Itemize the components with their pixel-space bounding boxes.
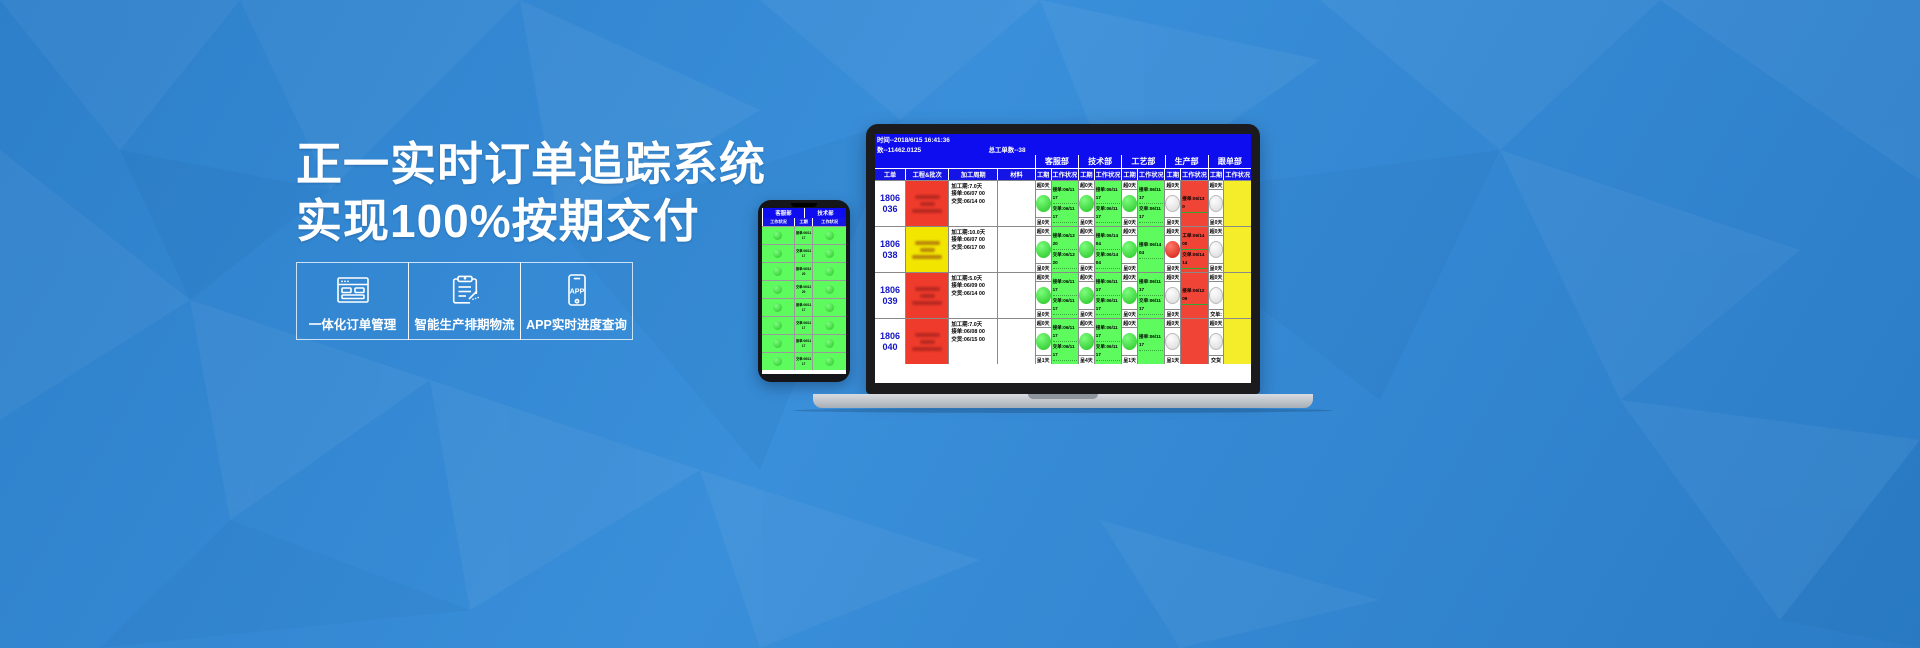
remain-days: 交货: [1209, 355, 1224, 364]
remain-days: 呈0天: [1165, 309, 1180, 318]
status-indicator: [1036, 287, 1051, 304]
over-days: 超0天: [1079, 273, 1094, 282]
status-note: 交单:06/11 17: [1053, 342, 1077, 361]
dept-status-cell: 接单:06/11 17: [1137, 319, 1164, 364]
dept-duration-cell: 超0天呈0天: [1035, 227, 1051, 272]
status-indicator: [1209, 195, 1224, 212]
phone-department-header: 客服部 技术部: [762, 208, 846, 218]
phone-table-row[interactable]: 交单:06/11 17: [762, 316, 846, 334]
status-indicator: [1079, 195, 1094, 212]
received-date: 接单:06/08 00: [951, 329, 995, 336]
status-note: 接单:06/12 09: [1182, 286, 1206, 305]
dept-status-cell: 接单:06/11 17交单:06/11 17: [1051, 181, 1078, 226]
status-note: 交单:06/11 17: [1096, 204, 1120, 223]
remain-days: 呈1天: [1036, 355, 1051, 364]
status-note: 交单:06/11 17: [1139, 296, 1163, 315]
col-status: 工作状况: [1051, 168, 1078, 180]
dept-status-cell: 接单:06/11 17交单:06/11 17: [1137, 181, 1164, 226]
dept-status-cell: [1223, 273, 1250, 318]
dept-header-production: 生产部: [1165, 155, 1208, 168]
status-note: 接单:06/11 17: [1139, 277, 1163, 296]
col-status: 工作状况: [1094, 168, 1121, 180]
dept-status-cell: 接单:06/11 17交单:06/11 17: [1051, 273, 1078, 318]
over-days: 超0天: [1122, 181, 1137, 190]
phone-status-note: 交单:06/11 17: [795, 249, 812, 258]
laptop-lid: 时间--2018/6/15 16:41:36 数--11462.0125 总工单…: [866, 124, 1260, 394]
dept-status-cell: 接单:06/11 17交单:06/11 17: [1094, 181, 1121, 226]
hero-copy: 正一实时订单追踪系统 实现100%按期交付: [296, 136, 716, 250]
table-row[interactable]: 1806038加工期:10.0天接单:06/07 00交货:06/17 00超0…: [875, 226, 1251, 272]
clipboard-icon: [450, 270, 480, 310]
material-cell: [997, 273, 1035, 318]
project-batch-cell: [905, 181, 948, 226]
col-duration: 工期: [1121, 168, 1137, 180]
phone-table-row[interactable]: 接单:06/11 17: [762, 334, 846, 352]
status-indicator: [773, 303, 782, 312]
phone-screen[interactable]: 客服部 技术部 工作状况 工期 工作状况 接单:06/11 17交单:06/11…: [762, 208, 846, 374]
phone-dept-label: 技术部: [804, 208, 846, 218]
dept-duration-cell: 超0天呈0天: [1078, 181, 1094, 226]
status-indicator: [773, 249, 782, 258]
status-indicator: [1122, 333, 1137, 350]
due-date: 交货:06/17 00: [951, 245, 995, 252]
order-row-list: 1806036加工期:7.0天接单:06/07 00交货:06/14 00超0天…: [875, 180, 1251, 364]
status-indicator: [1079, 333, 1094, 350]
dept-status-cell: 接单:06/12 20交单:06/12 20: [1051, 227, 1078, 272]
status-indicator: [825, 321, 834, 330]
dept-duration-cell: 超0天呈0天: [1208, 227, 1224, 272]
remain-days: 呈0天: [1079, 309, 1094, 318]
remain-days: 呈1天: [1122, 355, 1137, 364]
dept-status-cell: [1223, 181, 1250, 226]
table-row[interactable]: 1806040加工期:7.0天接单:06/08 00交货:06/15 00超0天…: [875, 318, 1251, 364]
remain-days: 呈4天: [1079, 355, 1094, 364]
phone-column-header: 工作状况 工期 工作状况: [762, 218, 846, 226]
dept-duration-cell: 超0天呈0天: [1121, 227, 1137, 272]
dept-duration-cell: 超0天呈0天: [1035, 181, 1051, 226]
remain-days: 呈1天: [1165, 355, 1180, 364]
dept-status-cell: 工单:06/14 00交单:06/14 14: [1180, 227, 1207, 272]
over-days: 超0天: [1079, 319, 1094, 328]
dept-duration-cell: 超0天呈0天: [1164, 181, 1180, 226]
table-row[interactable]: 1806039加工期:5.0天接单:06/09 00交货:06/14 00超0天…: [875, 272, 1251, 318]
remain-days: 呈0天: [1122, 217, 1137, 226]
status-indicator: [1209, 287, 1224, 304]
status-indicator: [1122, 195, 1137, 212]
project-batch-cell: [905, 273, 948, 318]
dept-status-cell: 接单:06/11 17交单:06/11 17: [1094, 273, 1121, 318]
status-note: 接单:06/14 04: [1096, 231, 1120, 250]
status-indicator: [825, 303, 834, 312]
column-header-row: 工单 工程&批次 加工周期 材料 工期 工作状况 工期 工作状况 工期 工作状况…: [875, 168, 1251, 180]
laptop-screen[interactable]: 时间--2018/6/15 16:41:36 数--11462.0125 总工单…: [875, 134, 1251, 383]
phone-table-row[interactable]: 接单:06/11 17: [762, 298, 846, 316]
over-days: 超0天: [1209, 319, 1224, 328]
status-indicator: [1165, 333, 1180, 350]
status-note: 接单:06/11 17: [1053, 277, 1077, 296]
order-tracking-dashboard: 时间--2018/6/15 16:41:36 数--11462.0125 总工单…: [875, 134, 1251, 364]
cycle-cell: 加工期:5.0天接单:06/09 00交货:06/14 00: [948, 273, 997, 318]
work-order-id: 1806040: [875, 319, 905, 364]
over-days: 超0天: [1209, 273, 1224, 282]
dept-status-cell: [1223, 319, 1250, 364]
remain-days: 呈0天: [1209, 217, 1224, 226]
feature-label: 智能生产排期物流: [414, 314, 514, 333]
table-row[interactable]: 1806036加工期:7.0天接单:06/07 00交货:06/14 00超0天…: [875, 180, 1251, 226]
dept-header-process: 工艺部: [1121, 155, 1164, 168]
status-indicator: [1209, 241, 1224, 258]
status-indicator: [825, 357, 834, 366]
dept-duration-cell: 超0天呈0天: [1078, 227, 1094, 272]
dept-duration-cell: 超0天呈4天: [1078, 319, 1094, 364]
status-note: 接单:06/11 17: [1096, 323, 1120, 342]
dept-status-cell: 接单:06/14 04交单:06/14 04: [1094, 227, 1121, 272]
dept-duration-cell: 超0天呈1天: [1121, 319, 1137, 364]
phone-col-label: 工期: [794, 218, 812, 226]
dept-duration-cell: 超0天呈0天: [1078, 273, 1094, 318]
status-note: 接单:06/11 17: [1139, 332, 1163, 351]
over-days: 超0天: [1122, 273, 1137, 282]
over-days: 超0天: [1079, 227, 1094, 236]
phone-table-row[interactable]: 交单:06/12 20: [762, 280, 846, 298]
status-indicator: [1165, 241, 1180, 258]
dept-status-cell: 接单:06/11 17交单:06/11 17: [1051, 319, 1078, 364]
status-indicator: [1079, 287, 1094, 304]
status-note: 接单:06/13 0: [1182, 194, 1206, 213]
phone-row-list: 接单:06/11 17交单:06/11 17接单:06/12 20交单:06/1…: [762, 226, 846, 370]
status-indicator: [825, 267, 834, 276]
status-note: 接单:06/11 17: [1096, 277, 1120, 296]
col-project-batch: 工程&批次: [905, 168, 948, 180]
due-date: 交货:06/14 00: [951, 199, 995, 206]
department-header-row: 客服部 技术部 工艺部 生产部 跟单部: [875, 155, 1251, 168]
phone-status-note: 接单:06/11 17: [795, 303, 812, 312]
cycle-cell: 加工期:10.0天接单:06/07 00交货:06/17 00: [948, 227, 997, 272]
status-indicator: [825, 285, 834, 294]
page-title-line2: 实现100%按期交付: [296, 193, 716, 250]
dept-duration-cell: 超0天呈0天: [1164, 273, 1180, 318]
phone-table-row[interactable]: 交单:06/11 17: [762, 352, 846, 370]
status-note: 接单:06/11 17: [1053, 323, 1077, 342]
over-days: 超0天: [1165, 273, 1180, 282]
status-indicator: [825, 339, 834, 348]
over-days: 超0天: [1122, 227, 1137, 236]
feature-label: 一体化订单管理: [309, 314, 397, 333]
status-indicator: [1036, 241, 1051, 258]
col-status: 工作状况: [1137, 168, 1164, 180]
remain-days: 交单:: [1209, 309, 1224, 318]
dept-status-cell: [1180, 319, 1207, 364]
remain-days: 呈0天: [1122, 263, 1137, 272]
dept-header-customer-service: 客服部: [1035, 155, 1078, 168]
over-days: 超0天: [1079, 181, 1094, 190]
over-days: 超0天: [1209, 227, 1224, 236]
project-batch-cell: [905, 227, 948, 272]
laptop-mockup: 时间--2018/6/15 16:41:36 数--11462.0125 总工单…: [866, 124, 1333, 413]
project-batch-cell: [905, 319, 948, 364]
dept-status-cell: [1223, 227, 1250, 272]
dept-status-cell: 接单:06/14 04: [1137, 227, 1164, 272]
over-days: 超0天: [1036, 227, 1051, 236]
over-days: 超0天: [1036, 273, 1051, 282]
due-date: 交货:06/15 00: [951, 337, 995, 344]
svg-text:APP: APP: [569, 286, 584, 295]
status-note: 交单:06/12 20: [1053, 250, 1077, 269]
col-duration: 工期: [1208, 168, 1224, 180]
dept-status-cell: 接单:06/12 09: [1180, 273, 1207, 318]
status-note: 交单:06/14 04: [1096, 250, 1120, 269]
remain-days: 呈0天: [1036, 309, 1051, 318]
dept-duration-cell: 超0天呈0天: [1208, 181, 1224, 226]
over-days: 超0天: [1165, 319, 1180, 328]
remain-days: 呈0天: [1165, 263, 1180, 272]
over-days: 超0天: [1165, 181, 1180, 190]
status-indicator: [825, 231, 834, 240]
status-note: 交单:06/11 17: [1053, 204, 1077, 223]
work-order-id: 1806038: [875, 227, 905, 272]
status-note: 交单:06/11 17: [1053, 296, 1077, 315]
status-note: 交单:06/11 17: [1139, 204, 1163, 223]
status-note: 工单:06/14 00: [1182, 231, 1206, 250]
over-days: 超0天: [1209, 181, 1224, 190]
received-date: 接单:06/07 00: [951, 191, 995, 198]
over-days: 超0天: [1165, 227, 1180, 236]
window-list-icon: [335, 270, 371, 310]
dept-header-technical: 技术部: [1078, 155, 1121, 168]
status-indicator: [1036, 195, 1051, 212]
status-indicator: [1165, 195, 1180, 212]
over-days: 超0天: [1122, 319, 1137, 328]
phone-status-note: 接单:06/11 17: [795, 339, 812, 348]
feature-item-app-tracking[interactable]: APP APP实时进度查询: [520, 262, 633, 340]
status-note: 交单:06/11 17: [1096, 296, 1120, 315]
col-duration: 工期: [1078, 168, 1094, 180]
col-duration: 工期: [1164, 168, 1180, 180]
received-date: 接单:06/09 00: [951, 283, 995, 290]
over-days: 超0天: [1036, 319, 1051, 328]
received-date: 接单:06/07 00: [951, 237, 995, 244]
status-indicator: [1209, 333, 1224, 350]
status-indicator: [773, 231, 782, 240]
col-cycle: 加工周期: [948, 168, 997, 180]
laptop-shadow: [793, 408, 1333, 413]
status-indicator: [773, 321, 782, 330]
status-indicator: [773, 267, 782, 276]
cycle-cell: 加工期:7.0天接单:06/07 00交货:06/14 00: [948, 181, 997, 226]
status-note: 接单:06/11 17: [1096, 185, 1120, 204]
phone-dept-label: 客服部: [762, 208, 804, 218]
over-days: 超0天: [1036, 181, 1051, 190]
feature-list: 一体化订单管理 智能生产排期物流: [296, 262, 632, 340]
dept-status-cell: 接单:06/11 17交单:06/11 17: [1137, 273, 1164, 318]
status-indicator: [773, 285, 782, 294]
status-indicator: [1165, 287, 1180, 304]
phone-status-note: 接单:06/12 20: [795, 267, 812, 276]
page-title-line1: 正一实时订单追踪系统: [296, 136, 716, 193]
dept-duration-cell: 超0天交单:: [1208, 273, 1224, 318]
status-indicator: [1122, 241, 1137, 258]
work-order-id: 1806036: [875, 181, 905, 226]
dept-duration-cell: 超0天呈0天: [1121, 181, 1137, 226]
work-order-id: 1806039: [875, 273, 905, 318]
dept-duration-cell: 超0天呈1天: [1035, 319, 1051, 364]
total-orders-count: 总工单数--38: [989, 145, 1026, 154]
col-status: 工作状况: [1180, 168, 1207, 180]
remain-days: 呈0天: [1165, 217, 1180, 226]
dept-duration-cell: 超0天交货: [1208, 319, 1224, 364]
status-time: 时间--2018/6/15 16:41:36: [877, 135, 1048, 144]
remain-days: 呈0天: [1122, 309, 1137, 318]
col-duration: 工期: [1035, 168, 1051, 180]
phone-table-row[interactable]: 接单:06/12 20: [762, 262, 846, 280]
col-work-order: 工单: [875, 168, 905, 180]
material-cell: [997, 181, 1035, 226]
status-indicator: [825, 249, 834, 258]
phone-col-label: 工作状况: [762, 218, 794, 226]
dept-status-cell: 接单:06/13 0: [1180, 181, 1207, 226]
status-count: 数--11462.0125: [877, 145, 989, 154]
due-date: 交货:06/14 00: [951, 291, 995, 298]
status-note: 接单:06/14 04: [1139, 240, 1163, 259]
remain-days: 呈0天: [1079, 263, 1094, 272]
cycle-cell: 加工期:7.0天接单:06/08 00交货:06/15 00: [948, 319, 997, 364]
status-note: 交单:06/14 14: [1182, 250, 1206, 269]
dept-duration-cell: 超0天呈0天: [1164, 227, 1180, 272]
dept-header-followup: 跟单部: [1208, 155, 1251, 168]
material-cell: [997, 227, 1035, 272]
phone-mockup: 客服部 技术部 工作状况 工期 工作状况 接单:06/11 17交单:06/11…: [758, 200, 850, 382]
feature-item-order-management[interactable]: 一体化订单管理: [296, 262, 409, 340]
status-indicator: [773, 357, 782, 366]
phone-status-note: 交单:06/11 17: [795, 321, 812, 330]
status-indicator: [1036, 333, 1051, 350]
material-cell: [997, 319, 1035, 364]
status-note: 接单:06/11 17: [1139, 185, 1163, 204]
mobile-app-icon: APP: [565, 270, 589, 310]
feature-label: APP实时进度查询: [526, 314, 627, 333]
remain-days: 呈0天: [1036, 217, 1051, 226]
col-status: 工作状况: [1223, 168, 1250, 180]
phone-status-note: 接单:06/11 17: [795, 231, 812, 240]
laptop-base: [813, 394, 1313, 408]
dept-duration-cell: 超0天呈1天: [1164, 319, 1180, 364]
remain-days: 呈0天: [1209, 263, 1224, 272]
phone-status-note: 交单:06/11 17: [795, 357, 812, 366]
status-indicator: [1122, 287, 1137, 304]
phone-table-row[interactable]: 接单:06/11 17: [762, 226, 846, 244]
status-note: 接单:06/11 17: [1053, 185, 1077, 204]
phone-table-row[interactable]: 交单:06/11 17: [762, 244, 846, 262]
remain-days: 呈0天: [1079, 217, 1094, 226]
phone-col-label: 工作状况: [812, 218, 846, 226]
status-indicator: [773, 339, 782, 348]
phone-status-note: 交单:06/12 20: [795, 285, 812, 294]
remain-days: 呈0天: [1036, 263, 1051, 272]
dept-duration-cell: 超0天呈0天: [1035, 273, 1051, 318]
col-material: 材料: [997, 168, 1035, 180]
dept-duration-cell: 超0天呈0天: [1121, 273, 1137, 318]
status-note: 接单:06/12 20: [1053, 231, 1077, 250]
status-indicator: [1079, 241, 1094, 258]
status-note: 交单:06/11 17: [1096, 342, 1120, 361]
dashboard-count-bar: 数--11462.0125 总工单数--38: [875, 144, 1251, 155]
feature-item-smart-scheduling[interactable]: 智能生产排期物流: [408, 262, 521, 340]
dept-status-cell: 接单:06/11 17交单:06/11 17: [1094, 319, 1121, 364]
